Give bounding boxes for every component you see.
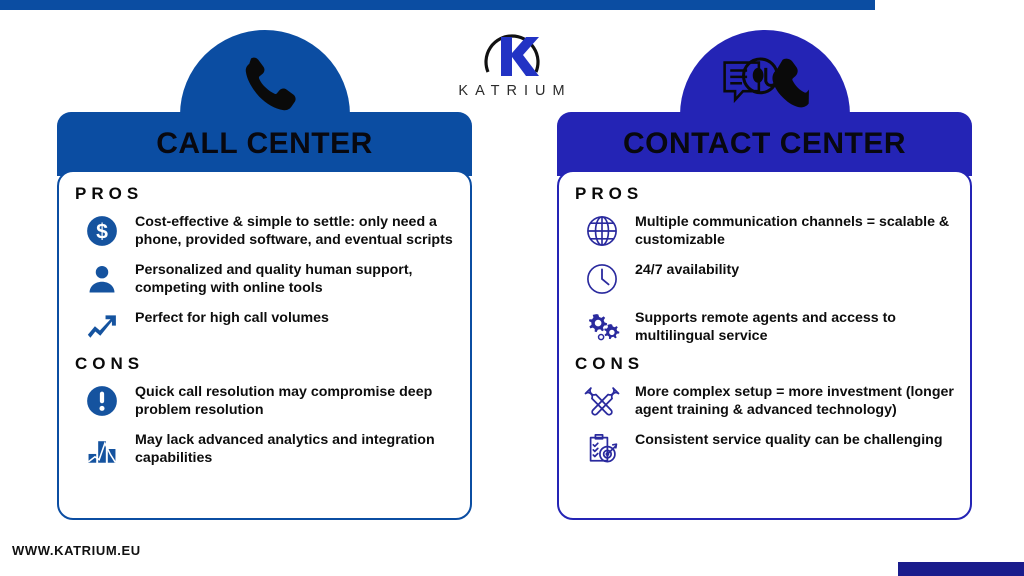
dollar-circle-icon: $: [81, 210, 123, 252]
svg-text:$: $: [96, 219, 108, 243]
footer-website-url[interactable]: WWW.KATRIUM.EU: [12, 543, 141, 558]
card-call-center: CALL CENTER PROS $ Cost-effective & simp…: [57, 30, 472, 520]
header-call-center: CALL CENTER: [57, 112, 472, 176]
bar-chart-icon: [81, 428, 123, 470]
bottom-right-accent-bar: [898, 562, 1024, 576]
list-item: Consistent service quality can be challe…: [581, 428, 956, 470]
cons-label: CONS: [75, 354, 456, 374]
body-call-center: PROS $ Cost-effective & simple to settle…: [57, 170, 472, 520]
card-title: CALL CENTER: [156, 129, 373, 159]
list-item: More complex setup = more investment (lo…: [581, 380, 956, 422]
infographic-canvas: KATRIUM CALL CENTER PROS $: [0, 0, 1024, 576]
list-item: Multiple communication channels = scalab…: [581, 210, 956, 252]
list-item-text: 24/7 availability: [635, 258, 739, 279]
card-contact-center: CONTACT CENTER PROS: [557, 30, 972, 520]
list-item-text: May lack advanced analytics and integrat…: [135, 428, 456, 467]
list-item-text: Cost-effective & simple to settle: only …: [135, 210, 456, 249]
list-item-text: Perfect for high call volumes: [135, 306, 329, 327]
list-item: Quick call resolution may compromise dee…: [81, 380, 456, 422]
list-item-text: Multiple communication channels = scalab…: [635, 210, 956, 249]
cons-label: CONS: [575, 354, 956, 374]
gears-icon: [581, 306, 623, 348]
pros-label: PROS: [75, 184, 456, 204]
list-item: $ Cost-effective & simple to settle: onl…: [81, 210, 456, 252]
pros-label: PROS: [575, 184, 956, 204]
person-icon: [81, 258, 123, 300]
globe-icon: [581, 210, 623, 252]
clipboard-target-icon: [581, 428, 623, 470]
list-item: Perfect for high call volumes: [81, 306, 456, 348]
card-title: CONTACT CENTER: [623, 129, 906, 159]
list-item: Supports remote agents and access to mul…: [581, 306, 956, 348]
chat-at-phone-icon: [719, 52, 811, 119]
header-contact-center: CONTACT CENTER: [557, 112, 972, 176]
list-item-text: More complex setup = more investment (lo…: [635, 380, 956, 419]
list-item-text: Quick call resolution may compromise dee…: [135, 380, 456, 419]
list-item: May lack advanced analytics and integrat…: [81, 428, 456, 470]
trend-up-arrow-icon: [81, 306, 123, 348]
body-contact-center: PROS Multiple communication: [557, 170, 972, 520]
list-item-text: Consistent service quality can be challe…: [635, 428, 942, 449]
list-item-text: Supports remote agents and access to mul…: [635, 306, 956, 345]
list-item: 24/7 availability: [581, 258, 956, 300]
clock-icon: [581, 258, 623, 300]
phone-handset-icon: [234, 52, 296, 119]
exclamation-circle-icon: [81, 380, 123, 422]
list-item: Personalized and quality human support, …: [81, 258, 456, 300]
tools-wrench-screwdriver-icon: [581, 380, 623, 422]
list-item-text: Personalized and quality human support, …: [135, 258, 456, 297]
top-accent-bar: [0, 0, 875, 10]
